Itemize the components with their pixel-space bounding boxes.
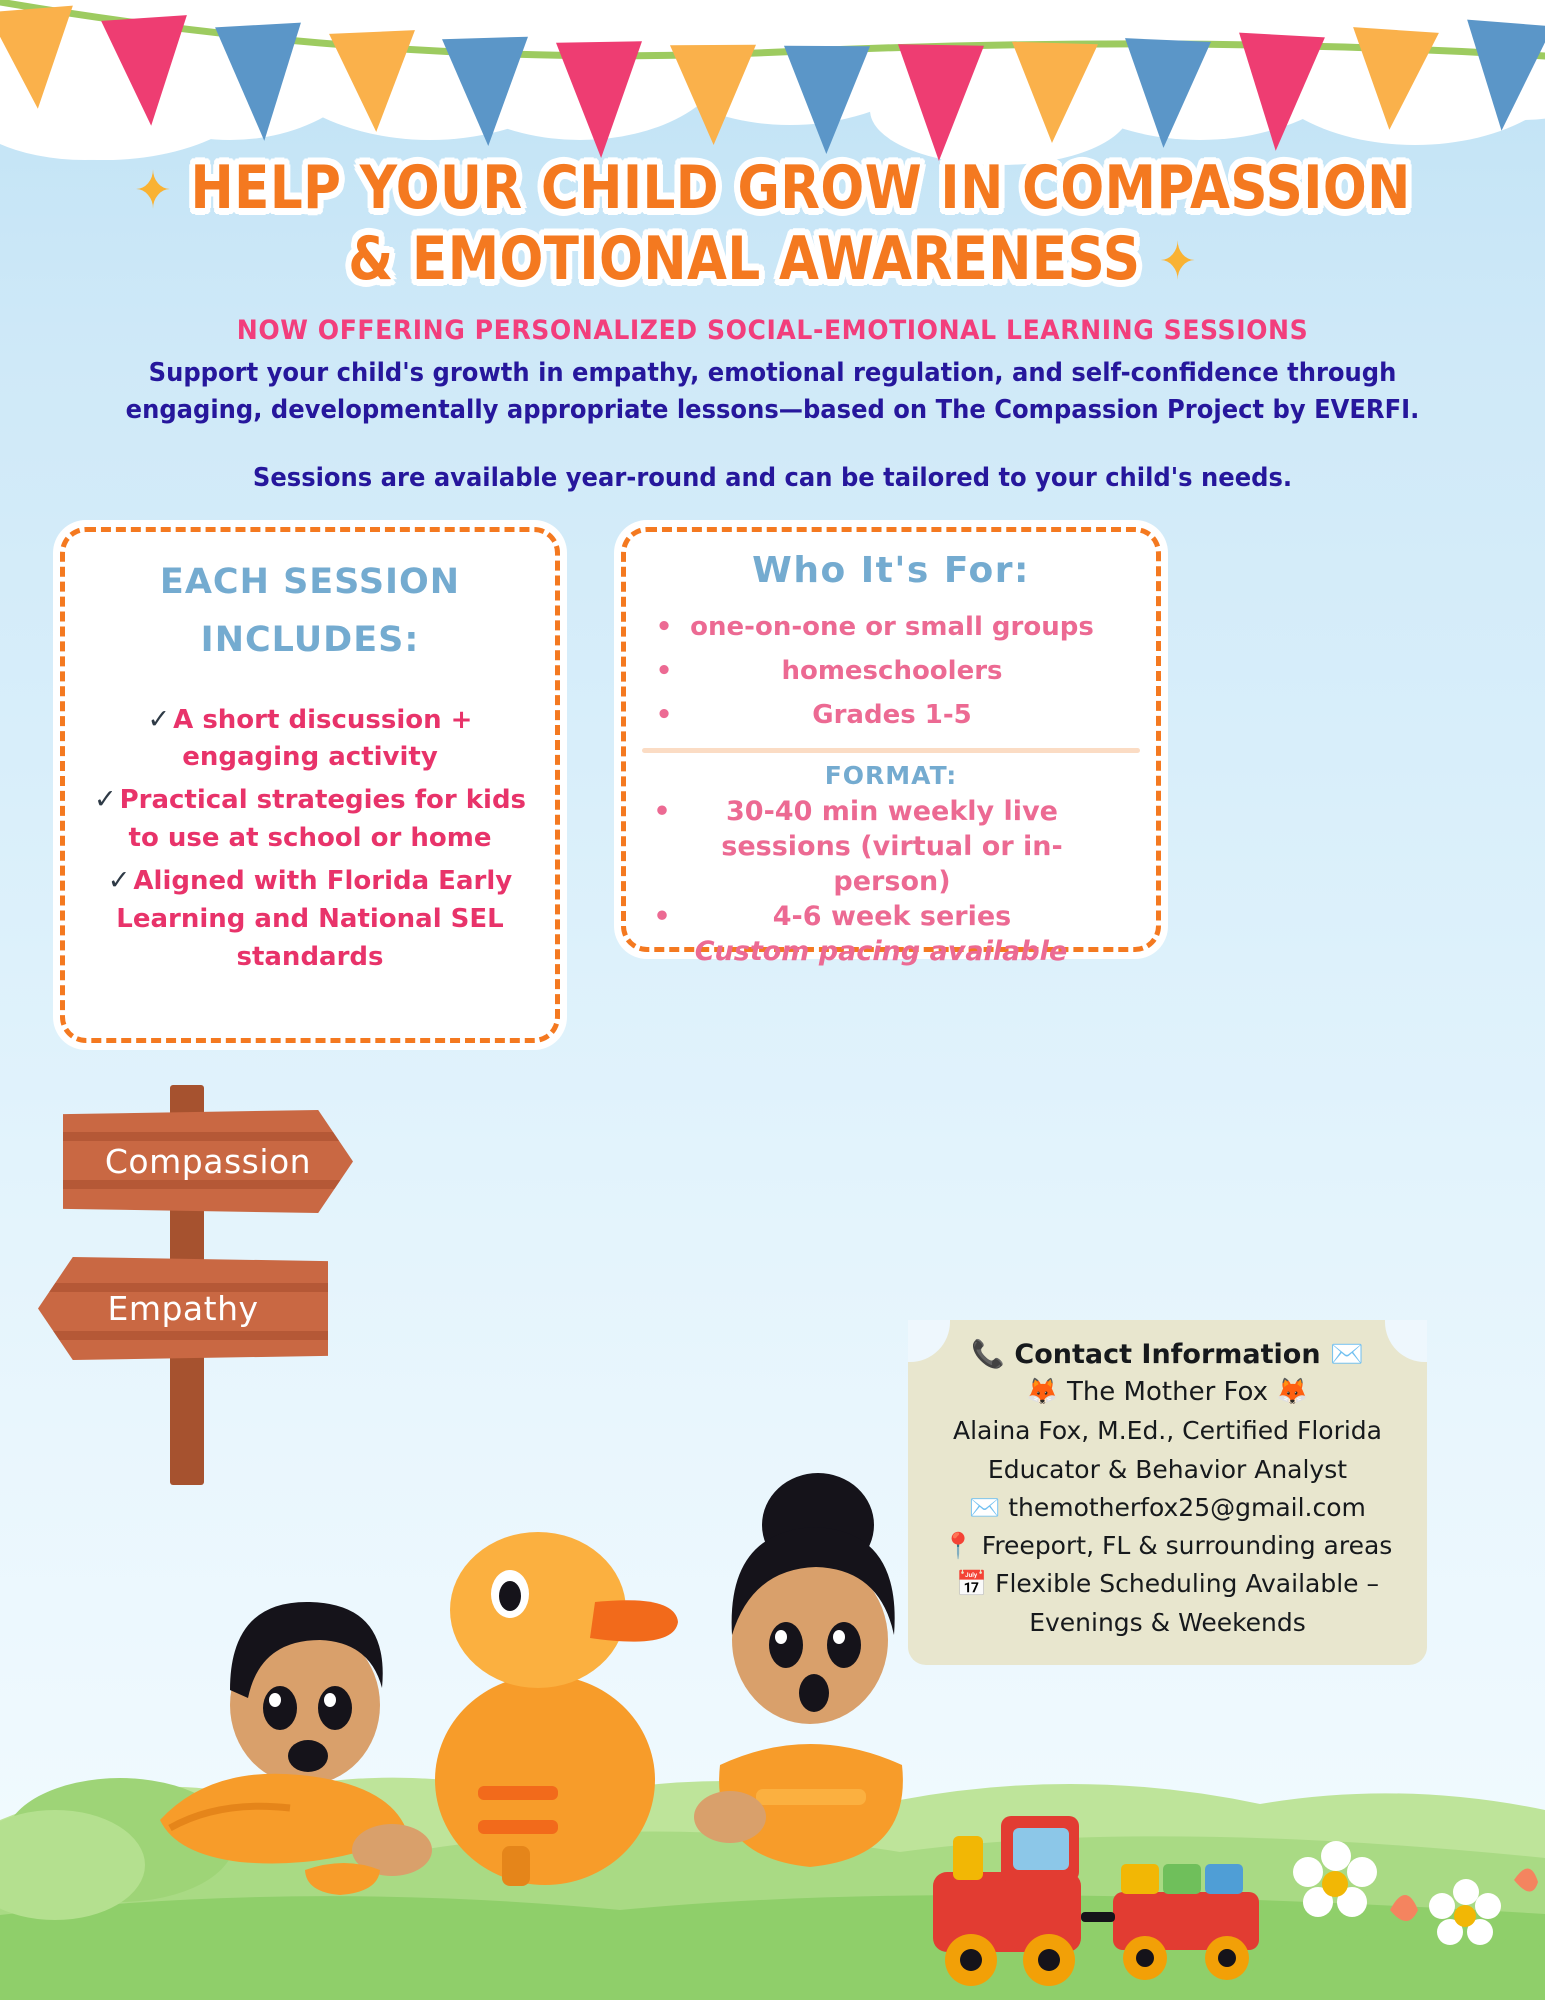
bullet-icon: •: [644, 605, 684, 649]
card-left-title-line-2: INCLUDES:: [65, 612, 555, 670]
scheduling-text-line-1: Flexible Scheduling Available –: [995, 1569, 1379, 1598]
check-icon: ✓: [94, 784, 117, 815]
duck-illustration: [390, 1490, 680, 1910]
availability-line: Sessions are available year-round and ca…: [86, 460, 1459, 497]
format-heading: FORMAT:: [642, 761, 1140, 790]
session-include-item: ✓Aligned with Florida Early Learning and…: [87, 861, 533, 977]
phone-icon: 📞: [971, 1339, 1005, 1370]
fox-icon-right: 🦊: [1276, 1377, 1308, 1407]
email-address[interactable]: themotherfox25@gmail.com: [1008, 1493, 1366, 1522]
mail-icon-email: ✉️: [969, 1493, 1000, 1522]
bullet-icon: •: [644, 693, 684, 737]
who-its-for-card: Who It's For: •one-on-one or small group…: [621, 527, 1161, 952]
audience-item: •Grades 1-5: [644, 693, 1138, 737]
flyer-poster: ✦ HELP YOUR CHILD GROW IN COMPASSION & E…: [0, 0, 1545, 2000]
sparkle-icon-left: ✦: [134, 161, 172, 221]
audience-item-label: Grades 1-5: [684, 693, 1138, 737]
audience-item: •homeschoolers: [644, 649, 1138, 693]
audience-item: •one-on-one or small groups: [644, 605, 1138, 649]
bunting-flag: [1347, 27, 1439, 132]
location-text: Freeport, FL & surrounding areas: [982, 1531, 1393, 1560]
card-right-title: Who It's For:: [626, 550, 1156, 591]
bunting-flag: [215, 23, 307, 144]
card-left-title: EACH SESSION INCLUDES:: [65, 554, 555, 670]
bunting-flag: [556, 41, 644, 159]
bunting-flag: [101, 15, 194, 128]
location-pin-icon: 📍: [943, 1531, 974, 1560]
session-includes-list: ✓A short discussion + engaging activity✓…: [87, 700, 533, 978]
bullet-icon: •: [642, 899, 682, 934]
format-item-label: 4-6 week series: [682, 899, 1140, 934]
bunting-flag: [1233, 33, 1325, 154]
intro-paragraph: Support your child's growth in empathy, …: [86, 355, 1459, 429]
audience-item-label: one-on-one or small groups: [684, 605, 1138, 649]
audience-item-label: homeschoolers: [684, 649, 1138, 693]
flowers-illustration: [1230, 1760, 1545, 2000]
calendar-icon: 📅: [956, 1569, 987, 1598]
card-divider: [642, 748, 1140, 753]
bullet-icon: •: [642, 794, 682, 829]
signpost-label-empathy: Empathy: [107, 1289, 258, 1328]
format-item-label: 30-40 min weekly live sessions (virtual …: [682, 794, 1140, 899]
session-include-item: ✓Practical strategies for kids to use at…: [87, 780, 533, 858]
page-title: ✦ HELP YOUR CHILD GROW IN COMPASSION & E…: [108, 153, 1437, 295]
signpost-illustration: Compassion Empathy: [30, 1085, 360, 1505]
signpost-board-compassion: Compassion: [63, 1110, 353, 1213]
bunting-flag: [1009, 42, 1098, 145]
bunting-flag: [1459, 20, 1545, 134]
signpost-label-compassion: Compassion: [105, 1142, 311, 1181]
business-name-row: 🦊 The Mother Fox 🦊: [922, 1374, 1413, 1412]
audience-list: •one-on-one or small groups•homeschooler…: [626, 605, 1156, 738]
subheadline: NOW OFFERING PERSONALIZED SOCIAL-EMOTION…: [54, 315, 1491, 346]
contact-heading-row: 📞 Contact Information ✉️: [922, 1336, 1413, 1374]
mail-icon-heading: ✉️: [1330, 1339, 1364, 1370]
bullet-icon: •: [644, 649, 684, 693]
check-icon: ✓: [148, 704, 171, 735]
bunting-flag: [783, 46, 870, 155]
bunting-flag: [896, 45, 984, 163]
format-item: •4-6 week series: [642, 899, 1140, 934]
bunting-flag: [1121, 38, 1211, 150]
fox-icon-left: 🦊: [1026, 1377, 1058, 1407]
format-item: •30-40 min weekly live sessions (virtual…: [642, 794, 1140, 899]
email-row: ✉️ themotherfox25@gmail.com: [922, 1489, 1413, 1527]
bunting-flag: [0, 6, 81, 112]
scheduling-text-line-2: Evenings & Weekends: [922, 1604, 1413, 1642]
each-session-includes-card: EACH SESSION INCLUDES: ✓A short discussi…: [60, 527, 560, 1043]
bunting-flag: [329, 30, 419, 134]
credentials-text: Alaina Fox, M.Ed., Certified Florida Edu…: [922, 1412, 1413, 1489]
headline-line-1: HELP YOUR CHILD GROW IN COMPASSION: [191, 153, 1411, 223]
signpost-board-empathy: Empathy: [38, 1257, 328, 1360]
contact-information-box: 📞 Contact Information ✉️ 🦊 The Mother Fo…: [908, 1320, 1427, 1665]
scheduling-row: 📅 Flexible Scheduling Available –: [922, 1565, 1413, 1603]
location-row: 📍 Freeport, FL & surrounding areas: [922, 1527, 1413, 1565]
session-include-item: ✓A short discussion + engaging activity: [87, 700, 533, 778]
bunting-flag: [670, 44, 757, 145]
business-name: The Mother Fox: [1067, 1377, 1268, 1407]
bunting-flag: [442, 37, 531, 148]
card-left-title-line-1: EACH SESSION: [65, 554, 555, 612]
bunting-banner: [0, 0, 1545, 150]
check-icon: ✓: [108, 865, 131, 896]
headline-line-2: & EMOTIONAL AWARENESS: [348, 224, 1140, 294]
format-note: Custom pacing available: [642, 936, 1140, 967]
sparkle-icon-right: ✦: [1159, 232, 1197, 292]
contact-heading-text: Contact Information: [1014, 1339, 1320, 1370]
format-list: •30-40 min weekly live sessions (virtual…: [642, 794, 1140, 934]
